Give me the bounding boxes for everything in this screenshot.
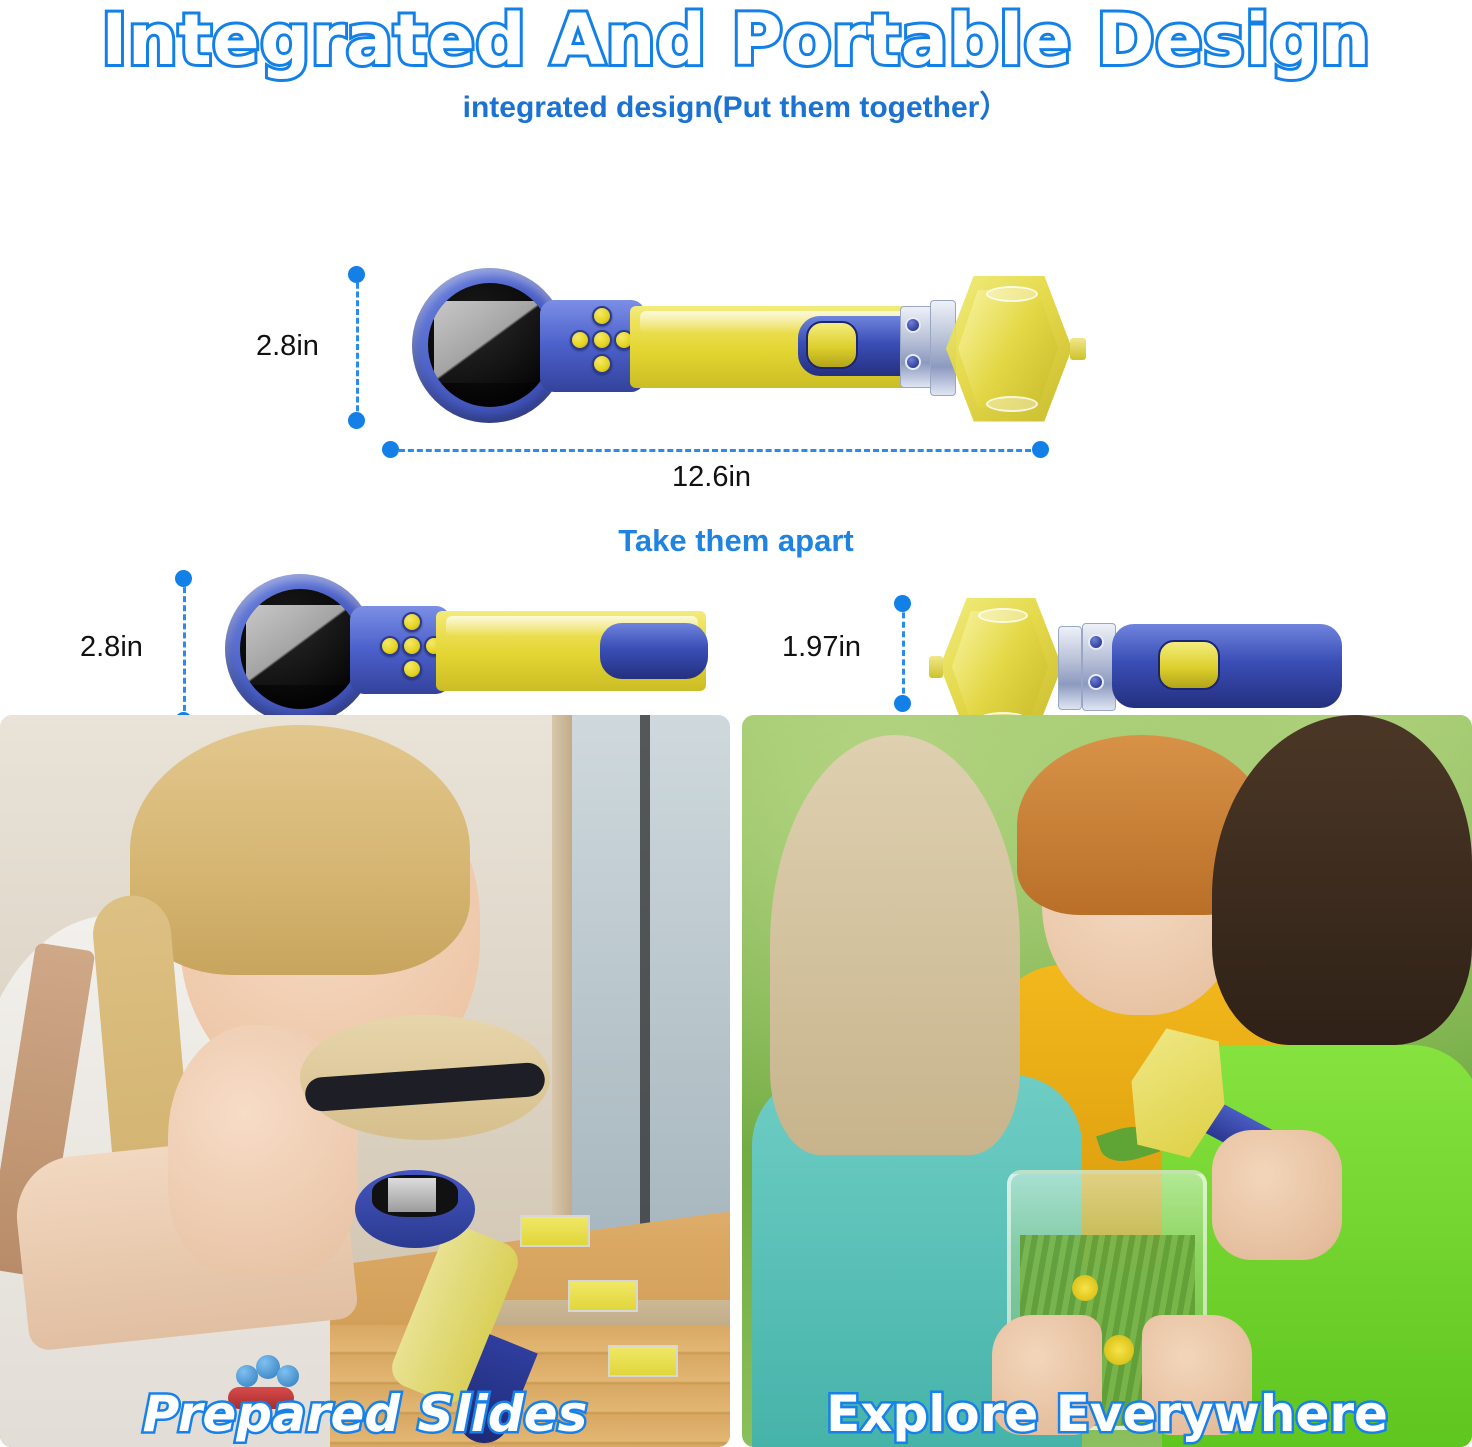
viewer-end-nub-left [929,656,943,678]
height-guide-right-piece [902,603,905,703]
blue-marble-3 [277,1365,299,1387]
blue-marble-1 [236,1365,258,1387]
girl-left-hair [770,735,1020,1155]
hinge-screw-bottom-detached [1088,674,1104,690]
bug-viewer-inner-chamber-detached [952,611,1048,723]
prepared-slide-3 [608,1345,678,1377]
microscope-screen-image [388,1178,436,1212]
prepared-slide-1 [520,1215,590,1247]
product-diagram-area: integrated design(Put them together） [0,78,1472,703]
hinge-connector-detached [1058,626,1082,710]
dimension-label-height-right: 1.97in [782,631,861,664]
guide-dot [894,595,911,612]
yellow-flower-1 [1072,1275,1098,1301]
prepared-slide-2 [568,1280,638,1312]
guide-dot [894,695,911,712]
viewer-lens-top [978,608,1028,623]
blue-handle [1112,624,1342,708]
girl-hair [130,725,470,975]
page-title: Integrated And Portable Design [0,0,1472,78]
photo-caption-prepared-slides: Prepared Slides [0,1385,730,1443]
explore-everywhere-photo: Explore Everywhere [742,715,1472,1447]
photo-gallery: Prepared Slides Explore Everywhere [0,715,1472,1447]
photo-caption-explore-everywhere: Explore Everywhere [742,1385,1472,1443]
focus-slider-knob-detached[interactable] [1158,640,1220,690]
hinge-screw-top-detached [1088,634,1104,650]
yellow-flower-2 [1104,1335,1134,1365]
bug-viewer-wand-illustration [0,78,1472,703]
prepared-slides-photo: Prepared Slides [0,715,730,1447]
girl-right-hand [1212,1130,1342,1260]
